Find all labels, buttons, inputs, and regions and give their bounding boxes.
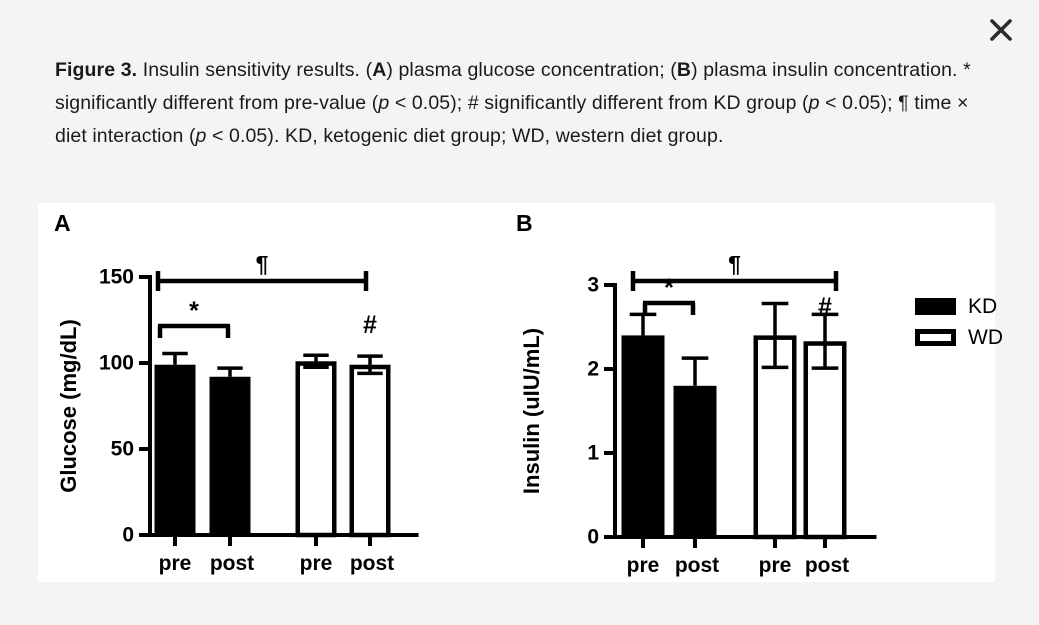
svg-text:*: *	[189, 297, 199, 325]
svg-text:Insulin (uIU/mL): Insulin (uIU/mL)	[519, 328, 544, 494]
svg-text:#: #	[818, 293, 832, 321]
caption-p-value-1: p	[378, 92, 389, 114]
caption-panel-a-ref: A	[372, 59, 386, 81]
svg-text:¶: ¶	[728, 251, 741, 277]
caption-panel-b-ref: B	[677, 59, 691, 81]
svg-text:50: 50	[111, 438, 134, 461]
legend-swatch-kd	[915, 298, 956, 315]
svg-text:150: 150	[99, 266, 134, 289]
legend-item-wd: WD	[915, 322, 1003, 353]
svg-text:*: *	[664, 274, 674, 302]
svg-text:post: post	[350, 552, 394, 575]
svg-text:100: 100	[99, 352, 134, 375]
svg-text:pre: pre	[159, 552, 192, 575]
caption-part-1: Insulin sensitivity results. (	[137, 59, 372, 81]
svg-text:Glucose (mg/dL): Glucose (mg/dL)	[56, 319, 81, 493]
figure-image-panel: A B 050100150Glucose (mg/dL)prepostprepo…	[38, 203, 995, 582]
legend-label-wd: WD	[968, 326, 1003, 350]
caption-part-6: < 0.05). KD, ketogenic diet group; WD, w…	[207, 125, 724, 147]
svg-text:pre: pre	[300, 552, 333, 575]
chart-panel-a: 050100150Glucose (mg/dL)prepostprepost¶*…	[38, 203, 508, 582]
figure-number: Figure 3.	[55, 59, 137, 81]
caption-part-4: < 0.05); # significantly different from …	[389, 92, 808, 114]
svg-text:post: post	[210, 552, 254, 575]
chart-panel-b: 0123Insulin (uIU/mL)prepostprepost¶*#	[503, 203, 923, 582]
legend-label-kd: KD	[968, 295, 997, 319]
svg-text:2: 2	[587, 358, 599, 381]
legend-swatch-wd	[915, 329, 956, 346]
close-icon	[988, 17, 1014, 43]
caption-p-value-2: p	[809, 92, 820, 114]
caption-part-2: ) plasma glucose concentration; (	[386, 59, 677, 81]
svg-text:1: 1	[587, 442, 599, 465]
svg-text:0: 0	[122, 524, 134, 547]
close-button[interactable]	[985, 14, 1017, 46]
chart-legend: KD WD	[915, 291, 1003, 353]
svg-text:¶: ¶	[256, 251, 269, 277]
svg-text:0: 0	[587, 526, 599, 549]
figure-caption: Figure 3. Insulin sensitivity results. (…	[55, 54, 985, 153]
caption-p-value-3: p	[196, 125, 207, 147]
svg-text:pre: pre	[627, 554, 660, 577]
legend-item-kd: KD	[915, 291, 1003, 322]
svg-text:3: 3	[587, 274, 599, 297]
svg-text:#: #	[363, 311, 377, 339]
svg-text:post: post	[675, 554, 719, 577]
svg-text:pre: pre	[759, 554, 792, 577]
svg-text:post: post	[805, 554, 849, 577]
